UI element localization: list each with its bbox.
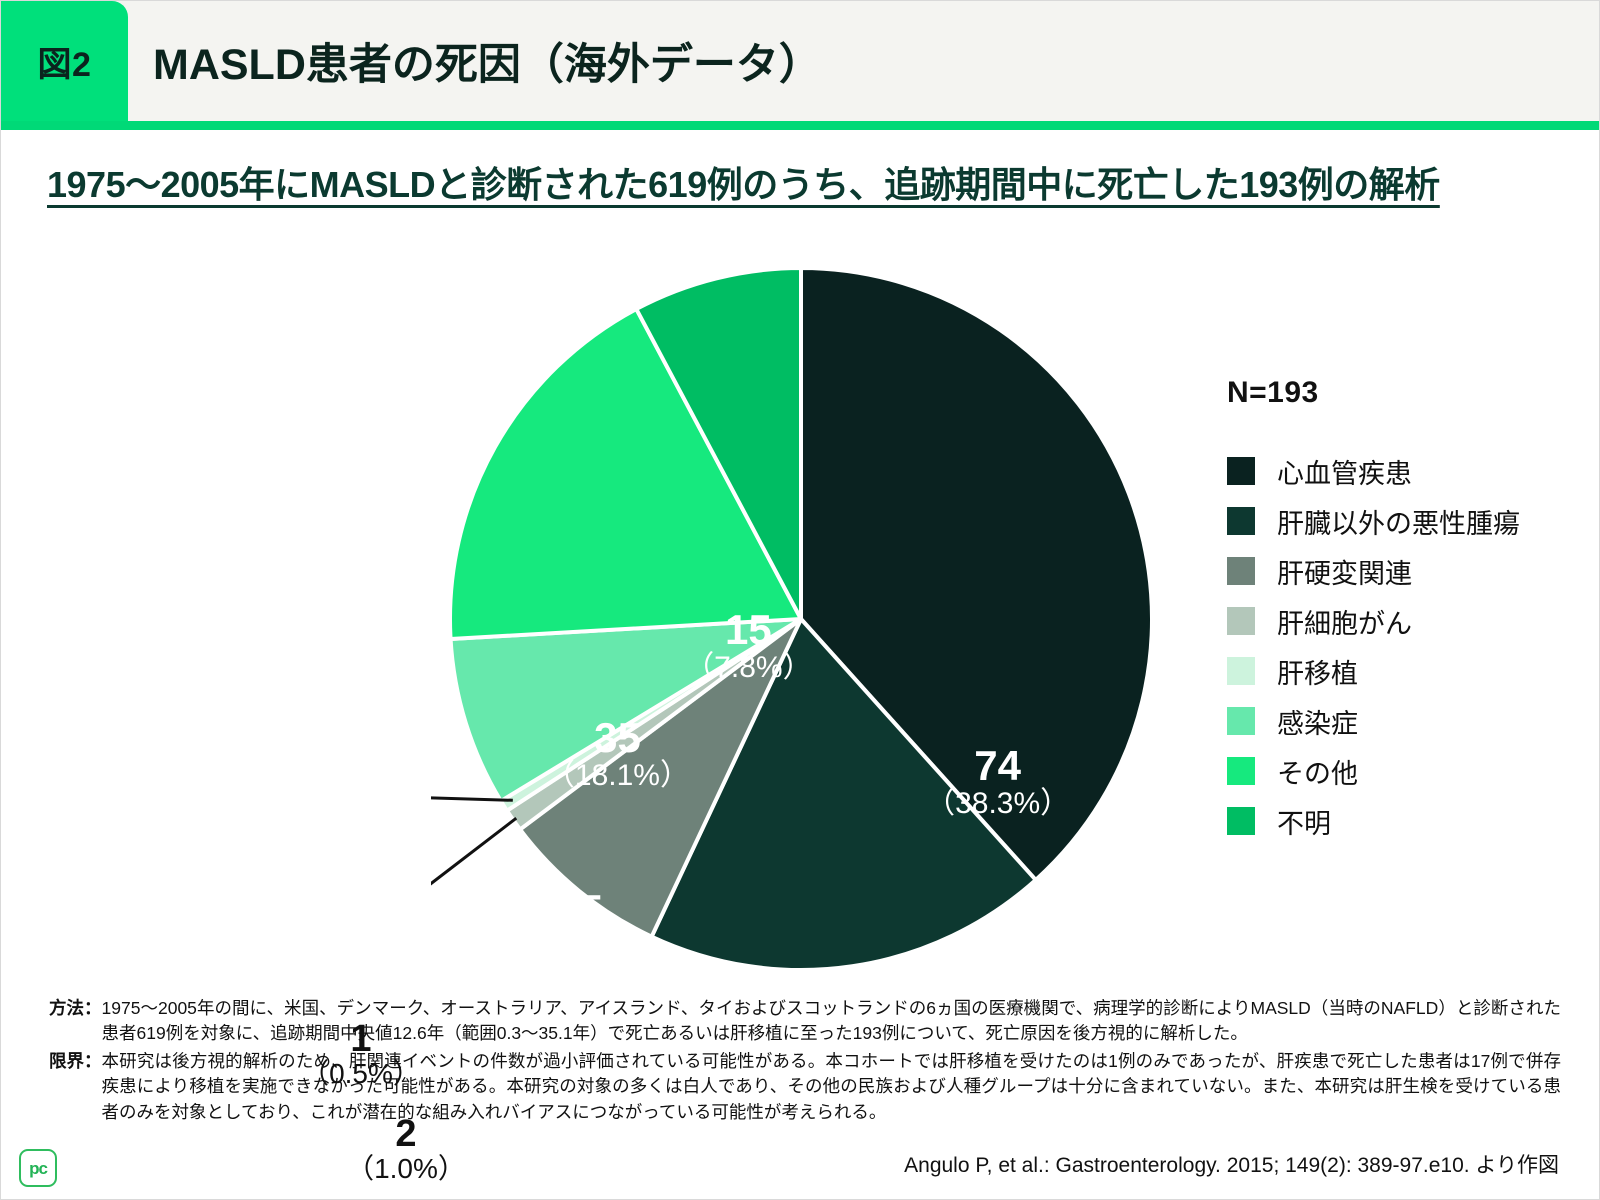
legend-item: 肝硬変関連 (1205, 546, 1535, 596)
note-limitation: 限界： 本研究は後方視的解析のため、肝関連イベントの件数が過小評価されている可能… (49, 1049, 1561, 1125)
figure-number-badge: 図2 (1, 1, 128, 121)
legend-swatch-icon (1227, 657, 1255, 685)
citation-text: Angulo P, et al.: Gastroenterology. 2015… (904, 1149, 1559, 1179)
legend-swatch-icon (1227, 807, 1255, 835)
note-method-key: 方法： (49, 996, 102, 1021)
legend-item: その他 (1205, 746, 1535, 796)
legend-item: 感染症 (1205, 696, 1535, 746)
legend-swatch-icon (1227, 557, 1255, 585)
legend-item: 肝臓以外の悪性腫瘍 (1205, 496, 1535, 546)
header-accent-rule (1, 121, 1600, 130)
publisher-logo-icon: pc (19, 1149, 57, 1187)
legend-item: 不明 (1205, 796, 1535, 846)
chart-legend: N=193 心血管疾患肝臓以外の悪性腫瘍肝硬変関連肝細胞がん肝移植感染症その他不… (1205, 376, 1535, 846)
legend-item-label: 心血管疾患 (1277, 452, 1412, 491)
legend-swatch-icon (1227, 707, 1255, 735)
note-limitation-body: 本研究は後方視的解析のため、肝関連イベントの件数が過小評価されている可能性がある… (102, 1049, 1562, 1125)
legend-item-label: その他 (1277, 752, 1358, 791)
legend-item: 心血管疾患 (1205, 446, 1535, 496)
legend-rows: 心血管疾患肝臓以外の悪性腫瘍肝硬変関連肝細胞がん肝移植感染症その他不明 (1205, 446, 1535, 846)
legend-swatch-icon (1227, 607, 1255, 635)
legend-swatch-icon (1227, 507, 1255, 535)
page-title: MASLD患者の死因（海外データ） (153, 1, 822, 121)
note-method-body: 1975〜2005年の間に、米国、デンマーク、オーストラリア、アイスランド、タイ… (102, 996, 1562, 1047)
note-limitation-key: 限界： (49, 1049, 102, 1074)
publisher-logo-text: pc (29, 1160, 47, 1177)
legend-item: 肝移植 (1205, 646, 1535, 696)
pie-slice-percent: （1.0%） (316, 1154, 496, 1184)
note-method: 方法： 1975〜2005年の間に、米国、デンマーク、オーストラリア、アイスラン… (49, 996, 1561, 1047)
figure-subtitle: 1975〜2005年にMASLDと診断された619例のうち、追跡期間中に死亡した… (47, 156, 1440, 208)
figure-notes: 方法： 1975〜2005年の間に、米国、デンマーク、オーストラリア、アイスラン… (49, 996, 1561, 1127)
legend-item-label: 感染症 (1277, 702, 1358, 741)
legend-item-label: 肝移植 (1277, 652, 1358, 691)
figure-header: 図2 MASLD患者の死因（海外データ） (1, 1, 1600, 121)
legend-item-label: 肝硬変関連 (1277, 552, 1412, 591)
legend-total-label: N=193 (1227, 376, 1535, 410)
pie-leader-line (431, 818, 516, 938)
figure-number-label: 図2 (1, 1, 128, 121)
legend-item-label: 肝細胞がん (1277, 602, 1412, 641)
legend-item-label: 不明 (1277, 802, 1331, 841)
legend-swatch-icon (1227, 457, 1255, 485)
pie-chart (431, 251, 1171, 991)
legend-swatch-icon (1227, 757, 1255, 785)
figure-slide: 図2 MASLD患者の死因（海外データ） 1975〜2005年にMASLDと診断… (0, 0, 1600, 1200)
legend-item-label: 肝臓以外の悪性腫瘍 (1277, 502, 1520, 541)
legend-item: 肝細胞がん (1205, 596, 1535, 646)
